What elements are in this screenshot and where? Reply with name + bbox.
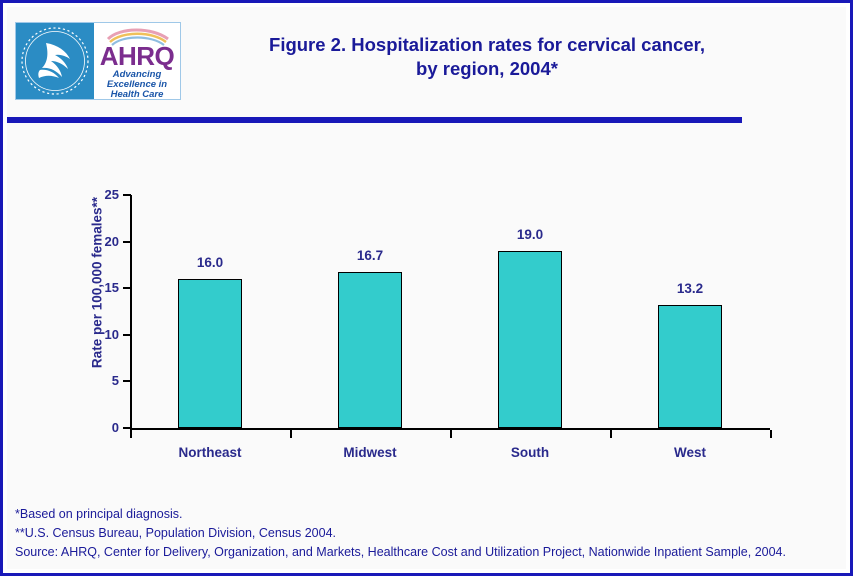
svg-text:Health Care: Health Care bbox=[111, 89, 165, 99]
y-axis-tick bbox=[123, 334, 131, 336]
x-axis-tick bbox=[450, 430, 452, 438]
ahrq-wordmark: AHRQ Advancing Excellence in Health Care bbox=[94, 23, 180, 99]
y-axis-tick bbox=[123, 380, 131, 382]
bar-value-label: 13.2 bbox=[650, 281, 730, 296]
footnote-2: **U.S. Census Bureau, Population Divisio… bbox=[15, 524, 835, 543]
footnote-source: Source: AHRQ, Center for Delivery, Organ… bbox=[15, 543, 835, 562]
y-axis-tick-label: 0 bbox=[79, 420, 119, 435]
y-axis-tick-label: 10 bbox=[79, 327, 119, 342]
bar-value-label: 16.7 bbox=[330, 248, 410, 263]
x-axis-category-label: Midwest bbox=[310, 445, 430, 460]
x-axis-tick bbox=[610, 430, 612, 438]
bar[interactable] bbox=[178, 279, 242, 428]
y-axis-tick bbox=[123, 241, 131, 243]
figure-header: AHRQ Advancing Excellence in Health Care… bbox=[7, 7, 846, 107]
y-axis-line bbox=[130, 195, 132, 429]
figure-title-line-1: Figure 2. Hospitalization rates for cerv… bbox=[187, 33, 787, 57]
figure-title-line-2: by region, 2004* bbox=[187, 57, 787, 81]
figure-page: AHRQ Advancing Excellence in Health Care… bbox=[0, 0, 853, 576]
bar[interactable] bbox=[498, 251, 562, 428]
x-axis-category-label: Northeast bbox=[150, 445, 270, 460]
bar[interactable] bbox=[338, 272, 402, 428]
y-axis-tick-label: 5 bbox=[79, 373, 119, 388]
y-axis-tick-label: 25 bbox=[79, 187, 119, 202]
bar-value-label: 16.0 bbox=[170, 255, 250, 270]
footnote-1: *Based on principal diagnosis. bbox=[15, 505, 835, 524]
x-axis-category-label: West bbox=[630, 445, 750, 460]
hhs-seal-icon bbox=[16, 23, 94, 99]
bar-chart: Rate per 100,000 females** 0510152025 16… bbox=[7, 123, 846, 503]
y-axis-tick-label: 20 bbox=[79, 234, 119, 249]
x-axis-tick bbox=[290, 430, 292, 438]
y-axis-tick bbox=[123, 287, 131, 289]
y-axis-tick bbox=[123, 427, 131, 429]
bar-value-label: 19.0 bbox=[490, 227, 570, 242]
x-axis-tick bbox=[130, 430, 132, 438]
y-axis-tick bbox=[123, 194, 131, 196]
ahrq-logo: AHRQ Advancing Excellence in Health Care bbox=[15, 22, 181, 100]
figure-canvas: AHRQ Advancing Excellence in Health Care… bbox=[7, 7, 846, 569]
bar[interactable] bbox=[658, 305, 722, 428]
y-axis-tick-labels: Rate per 100,000 females** 0510152025 bbox=[73, 123, 119, 503]
x-axis-category-label: South bbox=[470, 445, 590, 460]
y-axis-tick-label: 15 bbox=[79, 280, 119, 295]
footnotes: *Based on principal diagnosis. **U.S. Ce… bbox=[15, 505, 835, 562]
x-axis-tick bbox=[770, 430, 772, 438]
figure-title: Figure 2. Hospitalization rates for cerv… bbox=[187, 33, 787, 81]
svg-text:AHRQ: AHRQ bbox=[100, 41, 175, 71]
